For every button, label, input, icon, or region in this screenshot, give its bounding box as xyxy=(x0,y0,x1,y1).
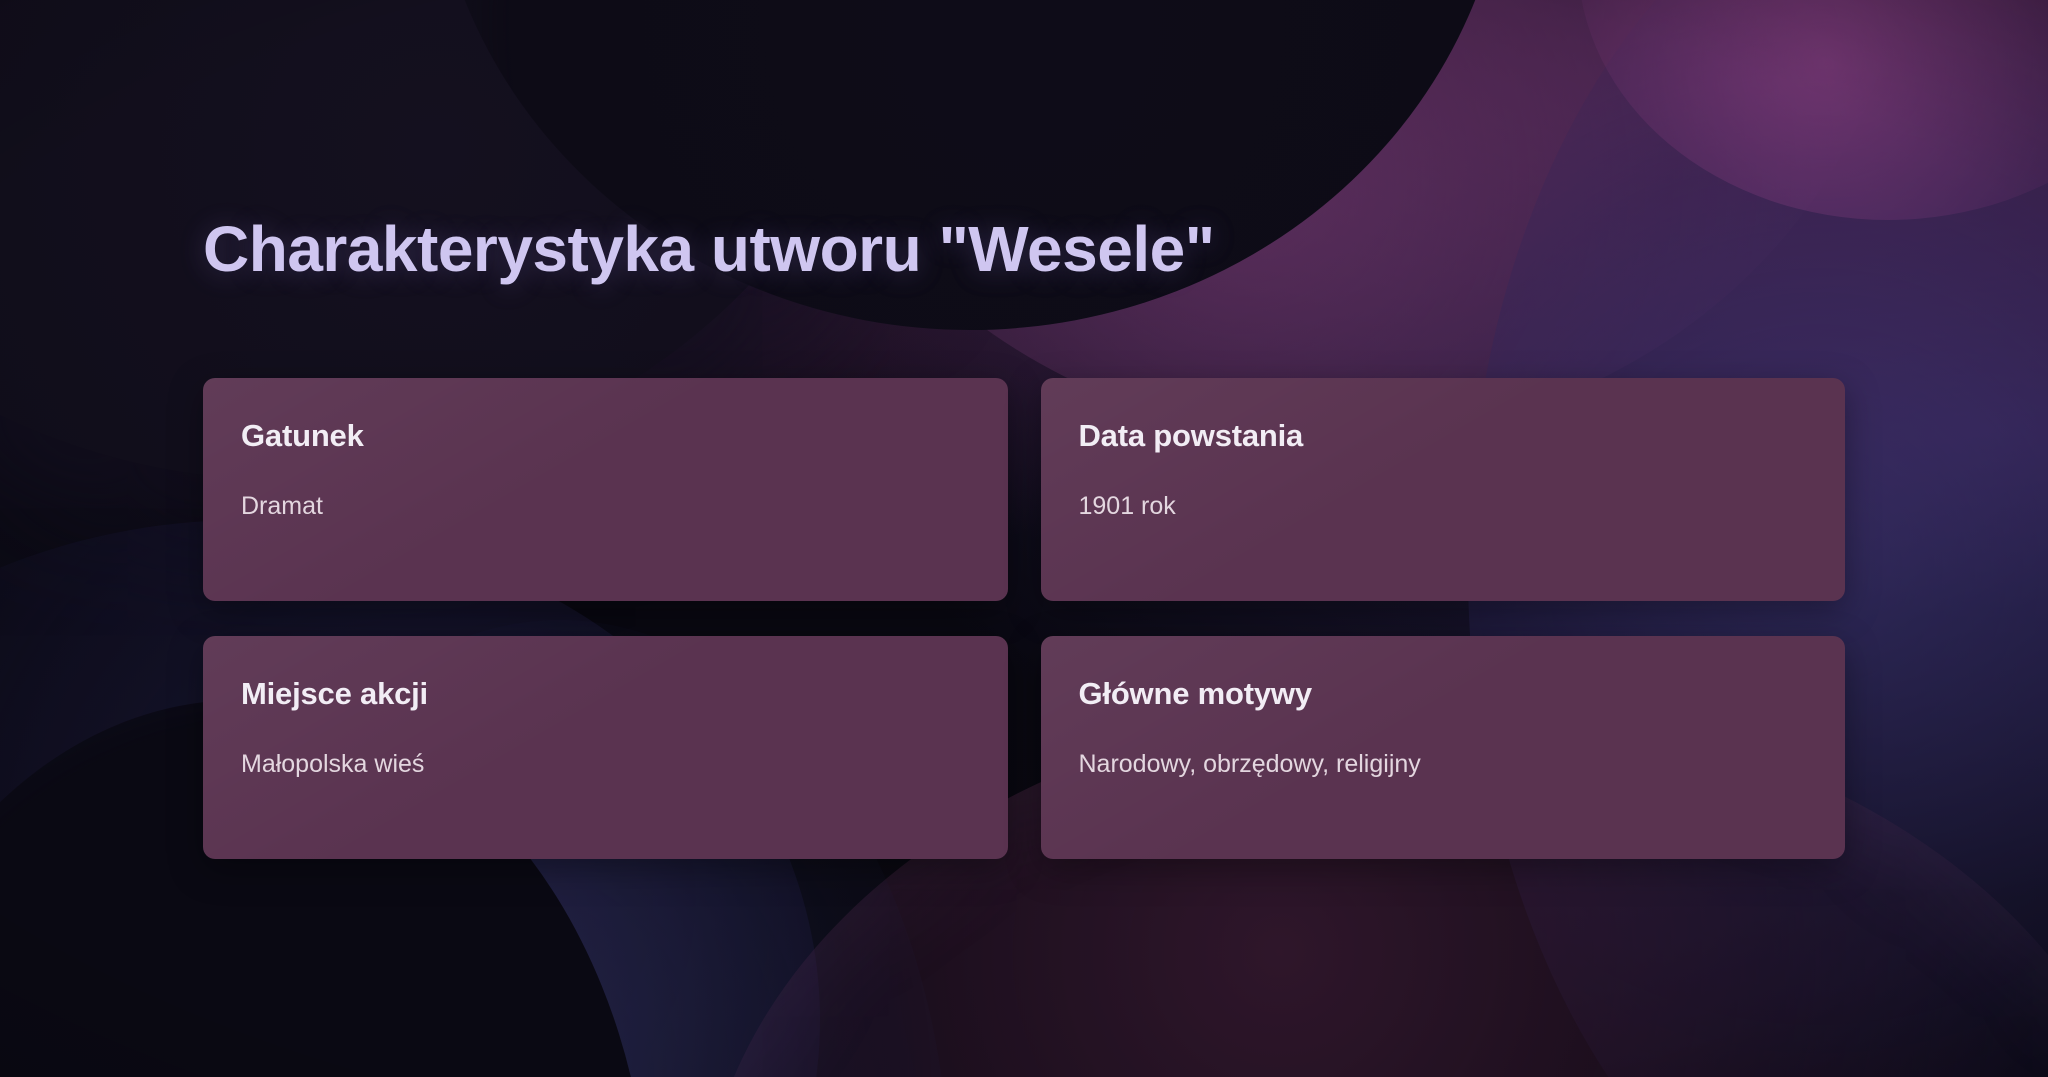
page-title: Charakterystyka utworu "Wesele" xyxy=(203,212,1215,286)
info-card-title: Gatunek xyxy=(241,418,970,454)
info-card-value: Narodowy, obrzędowy, religijny xyxy=(1079,748,1808,781)
info-card-grid: Gatunek Dramat Data powstania 1901 rok M… xyxy=(203,378,1845,859)
info-card-value: Dramat xyxy=(241,490,970,523)
info-card-miejsce-akcji[interactable]: Miejsce akcji Małopolska wieś xyxy=(203,636,1008,859)
info-card-value: 1901 rok xyxy=(1079,490,1808,523)
info-card-title: Data powstania xyxy=(1079,418,1808,454)
info-card-data-powstania[interactable]: Data powstania 1901 rok xyxy=(1041,378,1846,601)
info-card-gatunek[interactable]: Gatunek Dramat xyxy=(203,378,1008,601)
info-card-glowne-motywy[interactable]: Główne motywy Narodowy, obrzędowy, relig… xyxy=(1041,636,1846,859)
slide-root: Charakterystyka utworu "Wesele" Gatunek … xyxy=(0,0,2048,1077)
info-card-title: Miejsce akcji xyxy=(241,676,970,712)
info-card-title: Główne motywy xyxy=(1079,676,1808,712)
info-card-value: Małopolska wieś xyxy=(241,748,970,781)
